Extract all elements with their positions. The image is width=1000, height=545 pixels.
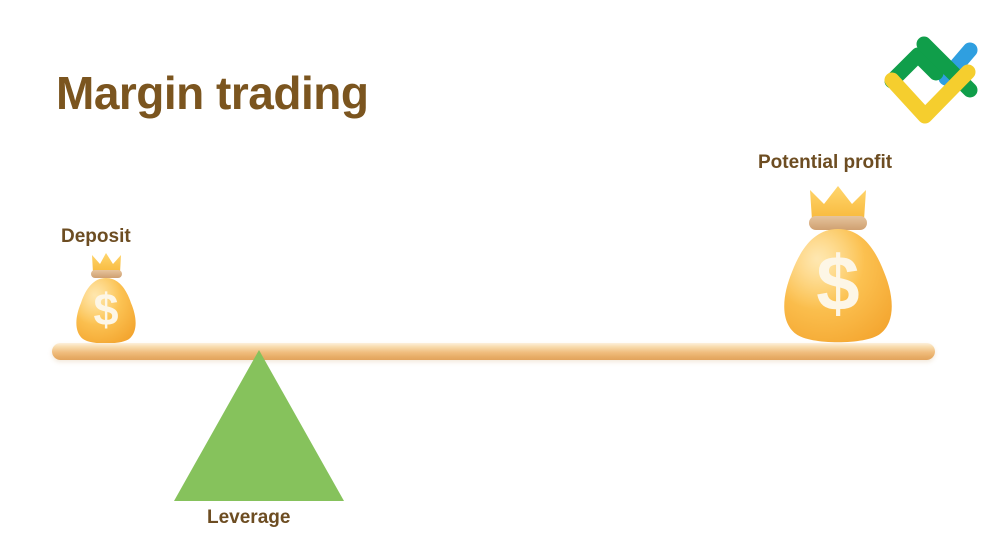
fulcrum-triangle bbox=[174, 350, 344, 502]
label-leverage: Leverage bbox=[207, 507, 290, 529]
money-bag-small-icon: $ bbox=[70, 252, 142, 348]
fx-logo bbox=[884, 28, 980, 130]
svg-text:$: $ bbox=[93, 284, 118, 335]
page-title: Margin trading bbox=[56, 66, 368, 120]
svg-text:$: $ bbox=[816, 239, 859, 327]
label-potential-profit: Potential profit bbox=[758, 152, 892, 174]
infographic-canvas: Margin trading Potential profit bbox=[0, 0, 1000, 545]
money-bag-large-icon: $ bbox=[772, 184, 904, 348]
label-deposit: Deposit bbox=[61, 226, 131, 248]
